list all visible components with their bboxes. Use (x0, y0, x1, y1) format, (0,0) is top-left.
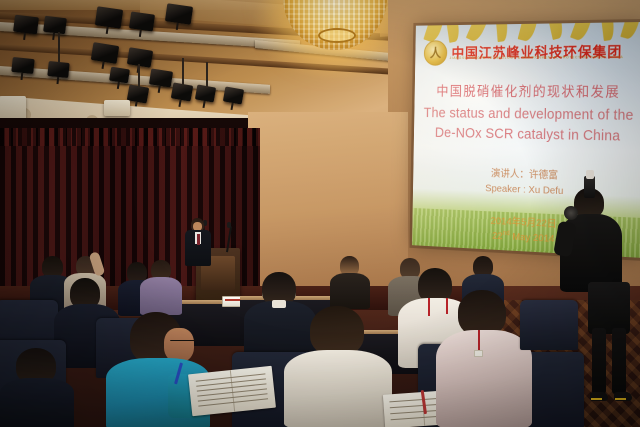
stage-spotlight (109, 67, 130, 84)
ceiling-speaker (104, 100, 130, 116)
eyeglasses (170, 340, 196, 343)
name-badge (474, 350, 483, 357)
microphone-head (227, 222, 231, 228)
stage-spotlight (129, 11, 155, 31)
attendee-pink-shirt-right (436, 290, 532, 427)
shoe (590, 392, 608, 401)
stage-spotlight (91, 42, 119, 64)
attendee-tan-jacket (330, 256, 370, 308)
audience-chair (520, 300, 578, 350)
attendee-face (164, 328, 194, 362)
lanyard (478, 330, 480, 352)
conference-hall-photo: 人 中国江苏峰业科技环保集团 JIANGSU FENGYE TECHNOLOGY… (0, 0, 640, 427)
stage-spotlight (43, 16, 67, 35)
attendee-white-shirt-center (284, 306, 392, 427)
camcorder (584, 176, 595, 198)
slide-logo: 人 中国江苏峰业科技环保集团 (424, 37, 640, 66)
attendee-front-left-edge (0, 348, 74, 427)
shoe (614, 392, 632, 401)
date-rest: May 2014 (509, 231, 554, 245)
curtain-valance (0, 128, 260, 146)
camera-lens-icon (564, 206, 578, 220)
stage-spotlight (13, 15, 39, 35)
camera-hood (586, 170, 594, 179)
stage-spotlight (127, 47, 153, 68)
standing-attendee-right (586, 282, 632, 402)
attendee-lavender-top (140, 260, 182, 314)
conference-booklet (188, 366, 276, 417)
presenter-at-podium (185, 218, 211, 266)
stage-spotlight (223, 86, 244, 104)
stage-spotlight (149, 68, 173, 87)
stage-spotlight (11, 57, 34, 74)
stage-spotlight (95, 6, 123, 28)
date-number: 22 (492, 230, 503, 242)
slide-title-en-line2: De-NOx SCR catalyst in China (414, 123, 640, 148)
logo-mark-char: 人 (430, 46, 441, 58)
wall-panel-center (248, 112, 408, 287)
stage-spotlight (165, 3, 193, 24)
company-logo-icon: 人 (424, 40, 448, 65)
lanyard (428, 298, 430, 316)
stage-spotlight (47, 61, 69, 78)
videographer-filming (560, 182, 622, 292)
slide-title-cn: 中国脱硝催化剂的现状和发展 (415, 82, 640, 102)
